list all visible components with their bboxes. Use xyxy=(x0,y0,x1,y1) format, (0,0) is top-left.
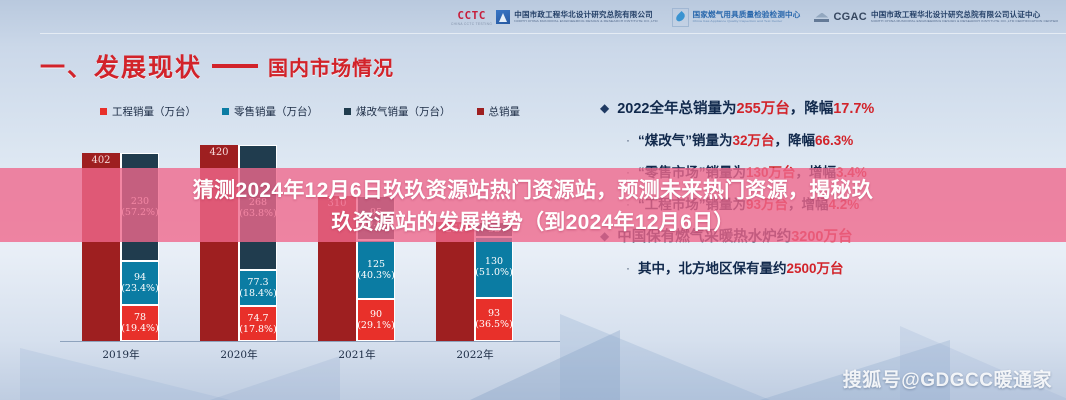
finding-bullet: ·其中，北方地区保有量约2500万台 xyxy=(626,260,1052,278)
logo-en-name: NORTH CHINA MUNICIPAL ENGINEERING DESIGN… xyxy=(871,20,1058,23)
segment-percent: (17.8%) xyxy=(239,324,277,335)
bar-segment-retail: 125(40.3%) xyxy=(357,240,395,298)
chart-legend: 工程销量（万台）零售销量（万台）煤改气销量（万台）总销量 xyxy=(100,104,520,119)
legend-item: 零售销量（万台） xyxy=(222,104,318,119)
bar-segment-proj: 93(36.5%) xyxy=(475,298,513,341)
cctc-subword: CHINA CCTC TESTING xyxy=(451,22,492,26)
logo-cctc: CCTC CHINA CCTC TESTING 中国市政工程华北设计研究总院有限… xyxy=(451,9,658,26)
section-heading: 一、发展现状 国内市场情况 xyxy=(40,48,394,84)
segment-value: 94 xyxy=(134,272,146,283)
caption-line-2: 玖资源站的发展趋势（到2024年12月6日） xyxy=(331,206,734,236)
bar-segment-retail: 94(23.4%) xyxy=(121,261,159,305)
legend-item: 总销量 xyxy=(477,104,521,119)
highlighted-figure: 66.3% xyxy=(815,133,853,148)
diamond-bullet-icon: ◆ xyxy=(600,100,609,117)
plain-text: ，降幅 xyxy=(775,133,816,148)
legend-swatch-icon xyxy=(344,108,351,115)
segment-percent: (23.4%) xyxy=(121,283,159,294)
plain-text: 其中，北方地区保有量约 xyxy=(638,261,787,276)
x-axis-label-wrap: 2020年 xyxy=(200,344,278,364)
segment-percent: (36.5%) xyxy=(475,319,513,330)
highlighted-figure: 32万台 xyxy=(733,133,775,148)
background-facet xyxy=(560,314,770,400)
segment-percent: (51.0%) xyxy=(475,267,513,278)
plain-text: ，降幅 xyxy=(790,101,834,117)
slide-canvas: CCTC CHINA CCTC TESTING 中国市政工程华北设计研究总院有限… xyxy=(0,0,1066,400)
total-bar-value: 420 xyxy=(200,147,238,158)
cgac-emblem-icon xyxy=(814,13,829,22)
logo-cn-name: 国家燃气用具质量检验检测中心 xyxy=(693,11,801,19)
segment-value: 90 xyxy=(370,309,382,320)
x-axis-label: 2022年 xyxy=(436,347,514,362)
heading-sub-text: 国内市场情况 xyxy=(268,52,394,81)
legend-item: 煤改气销量（万台） xyxy=(344,104,451,119)
x-axis-label: 2019年 xyxy=(82,347,160,362)
total-bar-value: 402 xyxy=(82,155,120,166)
dot-bullet-icon: · xyxy=(626,260,630,277)
highlighted-figure: 17.7% xyxy=(833,101,874,117)
legend-label: 总销量 xyxy=(489,104,521,119)
segment-value: 74.7 xyxy=(247,313,268,324)
segment-value: 130 xyxy=(485,256,503,267)
logo-en-name: China Gas Appliance Quality Inspection a… xyxy=(693,20,801,23)
legend-label: 零售销量（万台） xyxy=(234,104,318,119)
heading-main-text: 一、发展现状 xyxy=(40,48,202,84)
legend-item: 工程销量（万台） xyxy=(100,104,196,119)
legend-label: 工程销量（万台） xyxy=(112,104,196,119)
stacked-bar-chart: 402230(57.2%)94(23.4%)78(19.4%)2019年4202… xyxy=(60,132,560,364)
logo-gas-quality-center: 国家燃气用具质量检验检测中心 China Gas Appliance Quali… xyxy=(672,8,801,27)
segment-percent: (40.3%) xyxy=(357,270,395,281)
legend-swatch-icon xyxy=(477,108,484,115)
segment-value: 77.3 xyxy=(247,277,268,288)
segment-value: 78 xyxy=(134,312,146,323)
heading-dash-rule xyxy=(212,64,258,68)
legend-swatch-icon xyxy=(222,108,229,115)
bar-segment-proj: 78(19.4%) xyxy=(121,305,159,341)
logo-cn-name: 中国市政工程华北设计研究总院有限公司 xyxy=(514,11,657,19)
logo-cn-name: 中国市政工程华北设计研究总院有限公司认证中心 xyxy=(871,11,1058,19)
segment-percent: (19.4%) xyxy=(121,323,159,334)
x-axis-label-wrap: 2019年 xyxy=(82,344,160,364)
plain-text: “煤改气”销量为 xyxy=(638,133,733,148)
finding-text: “煤改气”销量为32万台，降幅66.3% xyxy=(638,132,853,150)
x-axis-label: 2021年 xyxy=(318,347,396,362)
chart-x-axis xyxy=(60,341,560,342)
highlighted-figure: 255万台 xyxy=(737,101,790,117)
bar-segment-retail: 130(51.0%) xyxy=(475,237,513,298)
segment-value: 125 xyxy=(367,259,385,270)
segment-value: 93 xyxy=(488,308,500,319)
finding-bullet: ·“煤改气”销量为32万台，降幅66.3% xyxy=(626,132,1052,150)
logo-bar: CCTC CHINA CCTC TESTING 中国市政工程华北设计研究总院有限… xyxy=(0,0,1066,34)
bar-segment-proj: 90(29.1%) xyxy=(357,299,395,341)
finding-bullet: ◆2022全年总销量为255万台，降幅17.7% xyxy=(600,100,1052,118)
source-watermark: 搜狐号@GDGCC暖通家 xyxy=(843,365,1052,392)
segment-percent: (18.4%) xyxy=(239,288,277,299)
logo-cgac: CGAC 中国市政工程华北设计研究总院有限公司认证中心 NORTH CHINA … xyxy=(814,11,1058,23)
legend-swatch-icon xyxy=(100,108,107,115)
cctc-wordmark-icon: CCTC CHINA CCTC TESTING xyxy=(451,9,492,26)
logo-en-name: NORTH CHINA MUNICIPAL ENGINEERING DESIGN… xyxy=(514,20,657,23)
x-axis-label-wrap: 2021年 xyxy=(318,344,396,364)
finding-text: 其中，北方地区保有量约2500万台 xyxy=(638,260,844,278)
highlighted-figure: 2500万台 xyxy=(787,261,844,276)
x-axis-label-wrap: 2022年 xyxy=(436,344,514,364)
caption-overlay-banner: 猜测2024年12月6日玖玖资源站热门资源站，预测未来热门资源，揭秘玖 玖资源站… xyxy=(0,168,1066,242)
legend-label: 煤改气销量（万台） xyxy=(356,104,451,119)
cctc-word: CCTC xyxy=(457,9,486,22)
finding-text: 2022全年总销量为255万台，降幅17.7% xyxy=(617,100,874,118)
caption-line-1: 猜测2024年12月6日玖玖资源站热门资源站，预测未来热门资源，揭秘玖 xyxy=(193,174,873,204)
logo-bar-divider xyxy=(40,33,1066,34)
bar-segment-proj: 74.7(17.8%) xyxy=(239,306,277,341)
institute-emblem-icon xyxy=(496,10,510,24)
dot-bullet-icon: · xyxy=(626,132,630,149)
x-axis-label: 2020年 xyxy=(200,347,278,362)
segment-percent: (29.1%) xyxy=(357,320,395,331)
plain-text: 2022全年总销量为 xyxy=(617,101,736,117)
gas-flame-icon xyxy=(672,8,689,27)
bar-segment-retail: 77.3(18.4%) xyxy=(239,270,277,306)
cgac-word: CGAC xyxy=(833,11,867,23)
